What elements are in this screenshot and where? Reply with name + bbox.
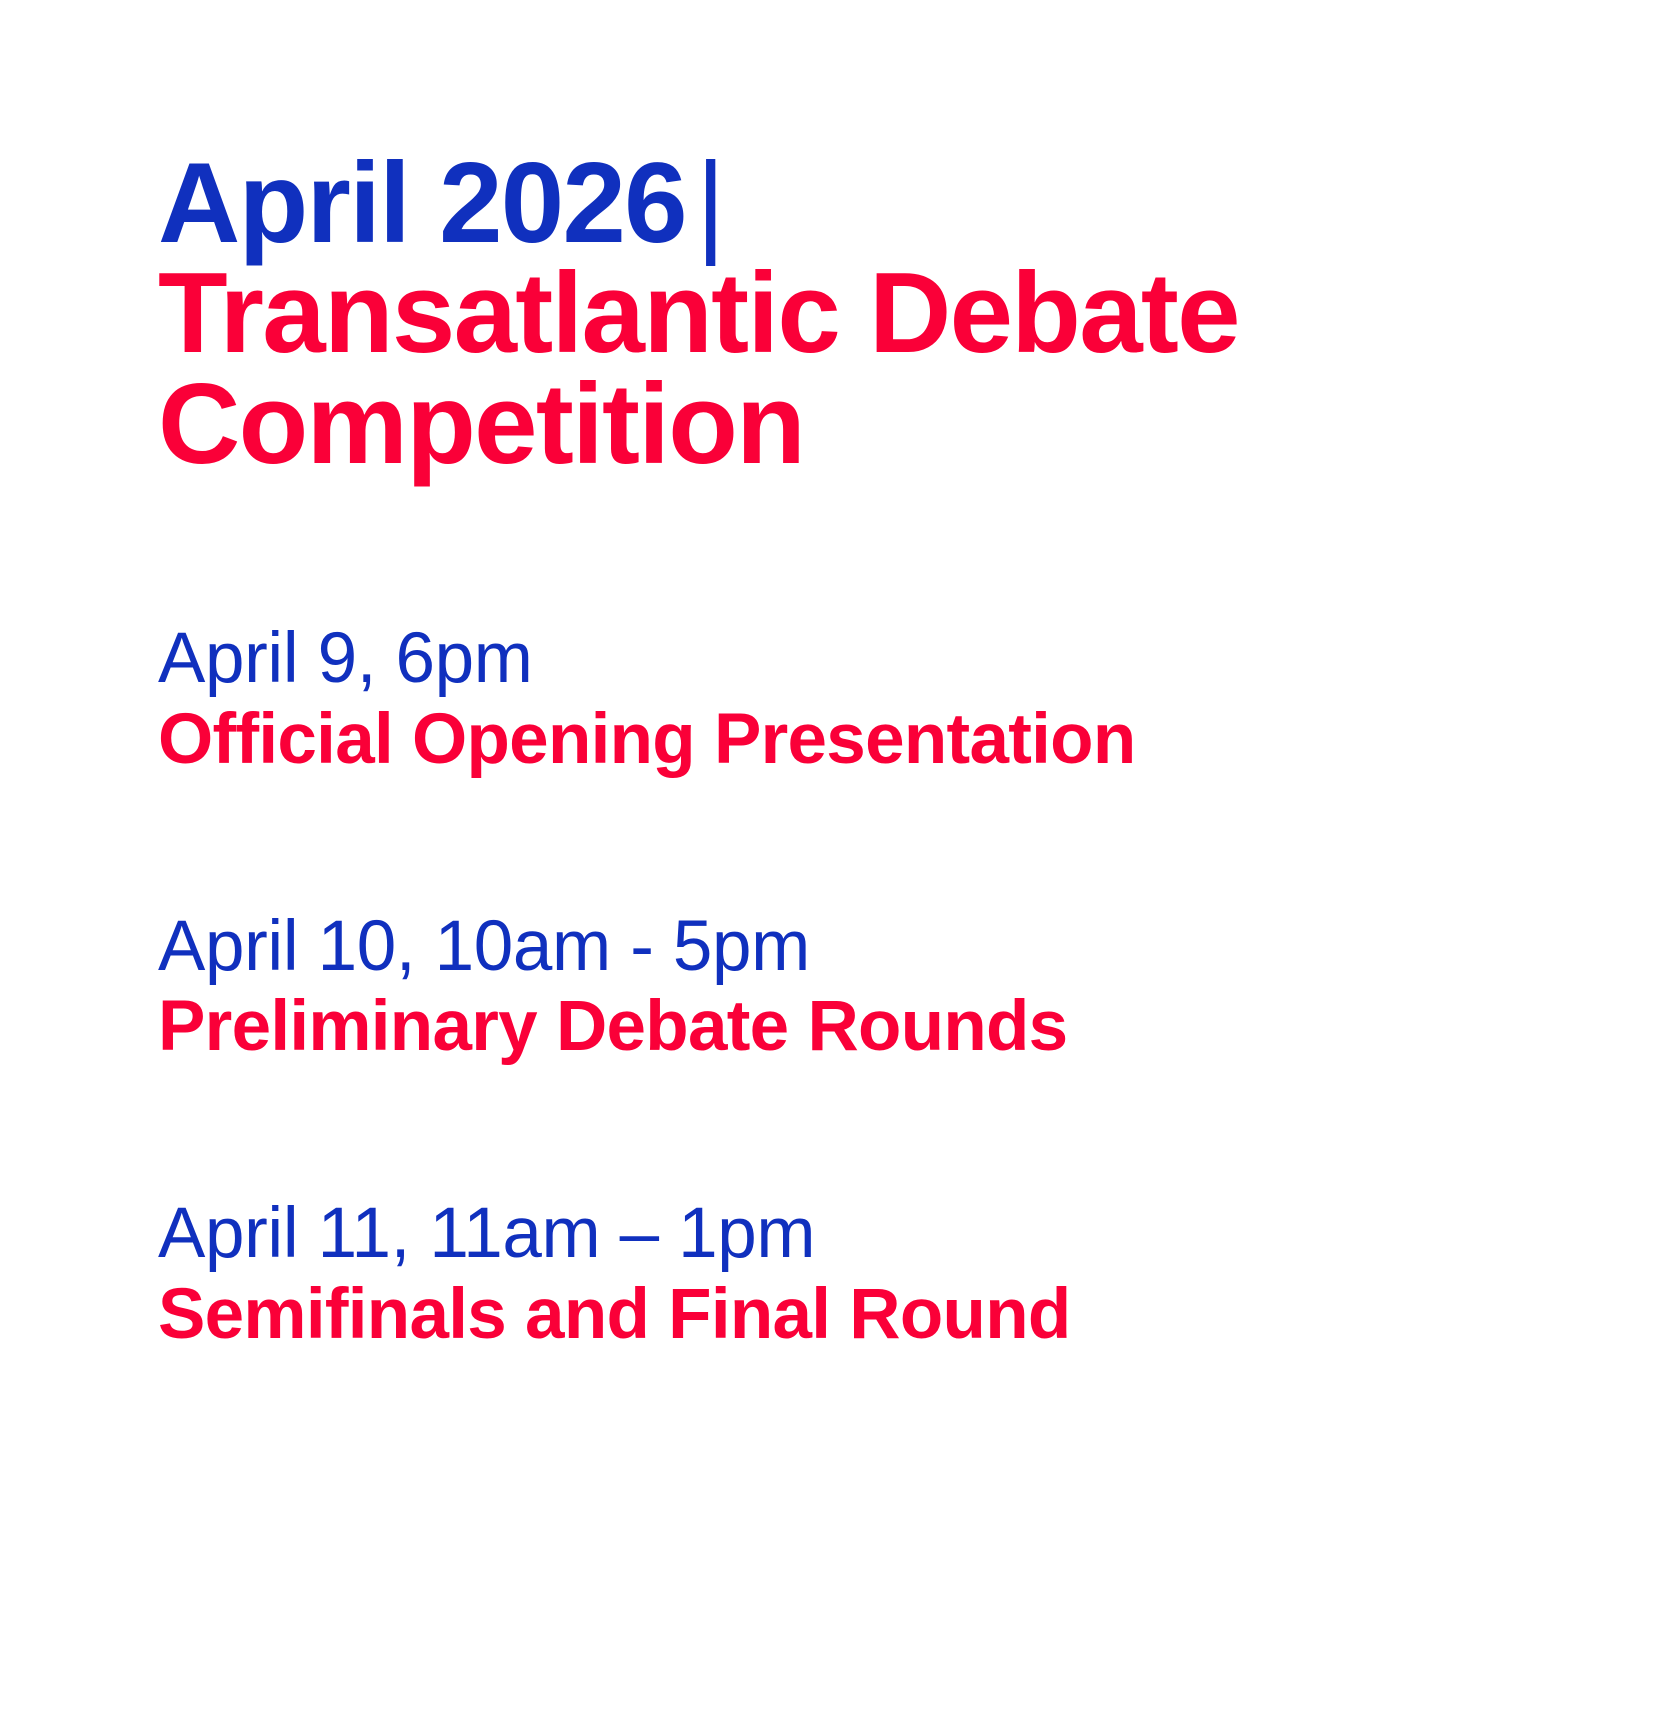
schedule-item: April 9, 6pm Official Opening Presentati… — [158, 619, 1547, 779]
schedule-item: April 10, 10am - 5pm Preliminary Debate … — [158, 907, 1547, 1067]
event-datetime: April 9, 6pm — [158, 619, 1547, 699]
event-datetime: April 11, 11am – 1pm — [158, 1194, 1547, 1274]
schedule-item: April 11, 11am – 1pm Semifinals and Fina… — [158, 1194, 1547, 1354]
headline-date: April 2026 — [158, 140, 686, 267]
schedule-list: April 9, 6pm Official Opening Presentati… — [158, 619, 1547, 1354]
headline-separator: | — [686, 140, 726, 267]
headline-title: Transatlantic Debate Competition — [158, 258, 1458, 481]
event-name: Preliminary Debate Rounds — [158, 988, 1547, 1066]
event-poster: April 2026| Transatlantic Debate Competi… — [0, 0, 1667, 1710]
page-title: April 2026| Transatlantic Debate Competi… — [158, 148, 1458, 481]
event-name: Official Opening Presentation — [158, 701, 1547, 779]
event-datetime: April 10, 10am - 5pm — [158, 907, 1547, 987]
event-name: Semifinals and Final Round — [158, 1276, 1547, 1354]
